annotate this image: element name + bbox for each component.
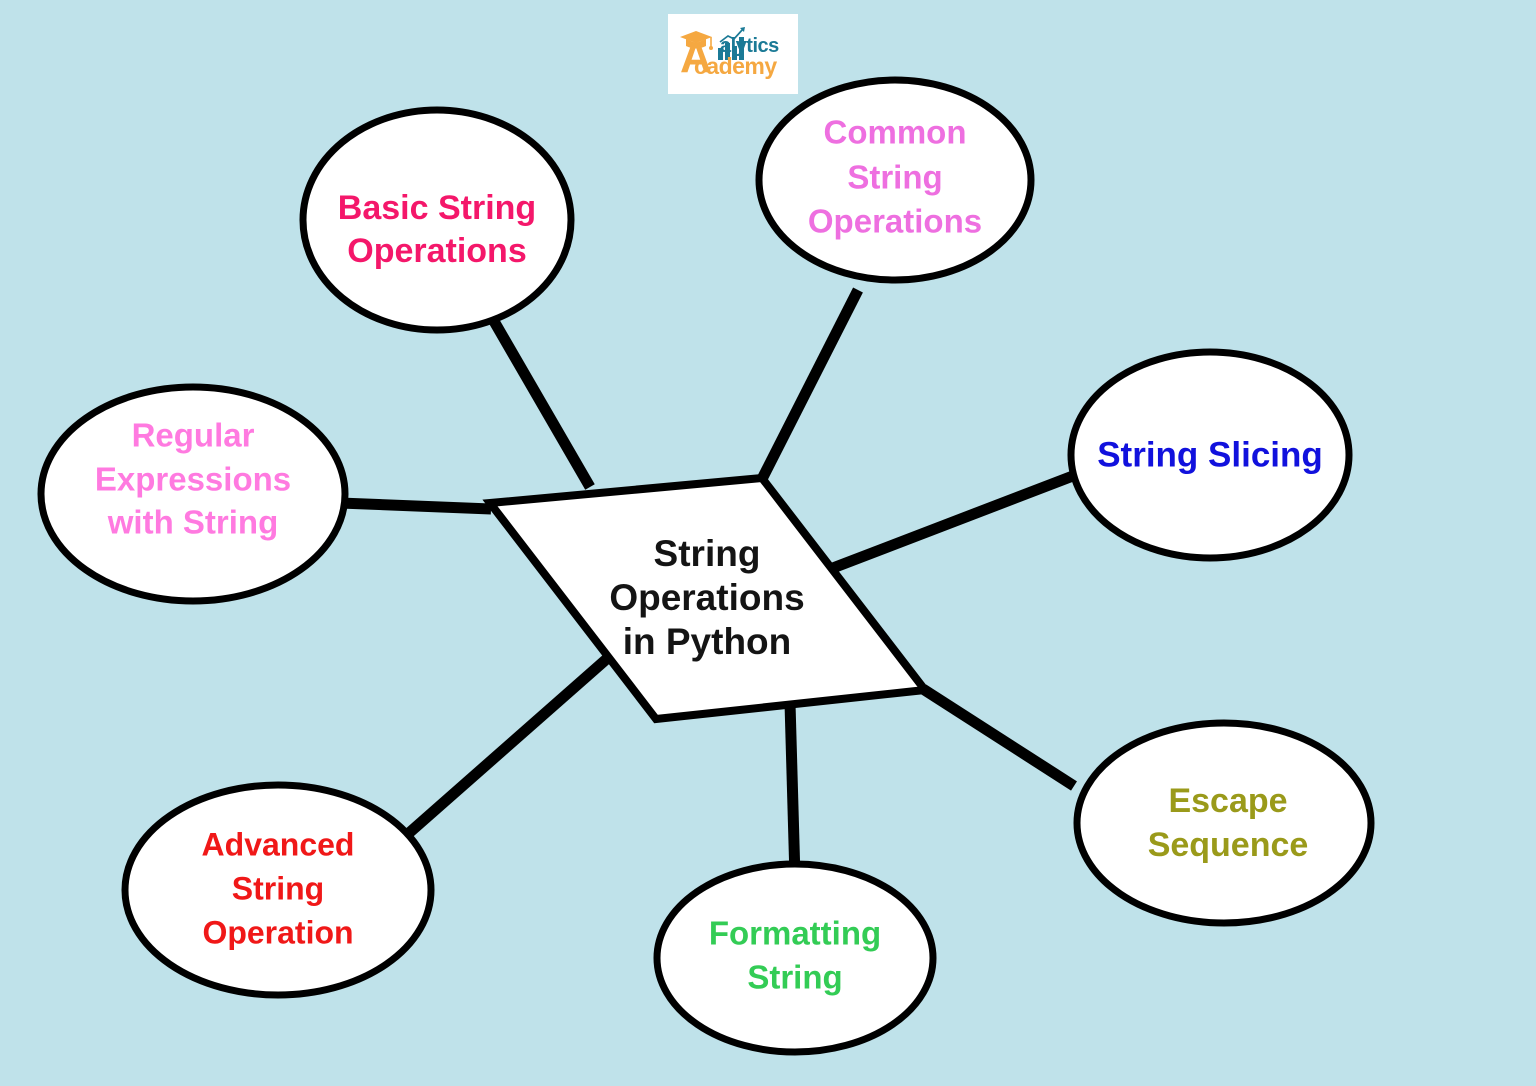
node-label-basic-string-operations-line-1: Basic String [338, 189, 536, 227]
node-string-slicing[interactable]: String Slicing [1071, 352, 1349, 558]
node-label-common-string-operations-line-3: Operations [808, 203, 982, 240]
node-label-common-string-operations-line-2: String [847, 159, 942, 196]
node-label-advanced-string-operation-line-3: Operation [202, 914, 353, 950]
node-label-central-line-3: in Python [623, 621, 792, 662]
node-label-escape-sequence-line-1: Escape [1168, 782, 1287, 820]
node-label-common-string-operations-line-1: Common [824, 114, 967, 151]
node-label-formatting-string-line-1: Formatting [709, 915, 881, 952]
connector-central-to-formatting-string [790, 703, 795, 878]
analytics-academy-logo: A alytics cademy [668, 14, 798, 94]
node-label-basic-string-operations-line-2: Operations [347, 232, 526, 270]
node-formatting-string[interactable]: Formatting String [657, 864, 933, 1052]
node-common-string-operations[interactable]: Common String Operations [759, 80, 1031, 280]
node-label-advanced-string-operation-line-2: String [232, 870, 324, 906]
node-label-regular-expressions-line-1: Regular [132, 417, 255, 454]
node-label-central-line-1: String [654, 533, 761, 574]
mind-map-canvas: Basic String Operations Common String Op… [0, 0, 1536, 1086]
node-basic-string-operations[interactable]: Basic String Operations [303, 110, 571, 330]
node-advanced-string-operation[interactable]: Advanced String Operation [125, 785, 431, 995]
node-label-string-slicing-line-1: String Slicing [1097, 435, 1323, 474]
node-label-advanced-string-operation-line-1: Advanced [202, 826, 355, 862]
node-label-escape-sequence-line-2: Sequence [1148, 826, 1309, 864]
logo-word-academy: cademy [694, 55, 777, 78]
node-escape-sequence[interactable]: Escape Sequence [1077, 723, 1371, 923]
node-label-regular-expressions-line-3: with String [107, 504, 278, 541]
connector-central-to-regular-expressions [340, 503, 491, 509]
node-regular-expressions-with-string[interactable]: Regular Expressions with String [41, 387, 345, 601]
node-shape-escape-sequence[interactable] [1077, 723, 1371, 923]
node-label-central-line-2: Operations [609, 577, 804, 618]
node-label-regular-expressions-line-2: Expressions [95, 461, 291, 498]
node-label-formatting-string-line-2: String [747, 959, 842, 996]
